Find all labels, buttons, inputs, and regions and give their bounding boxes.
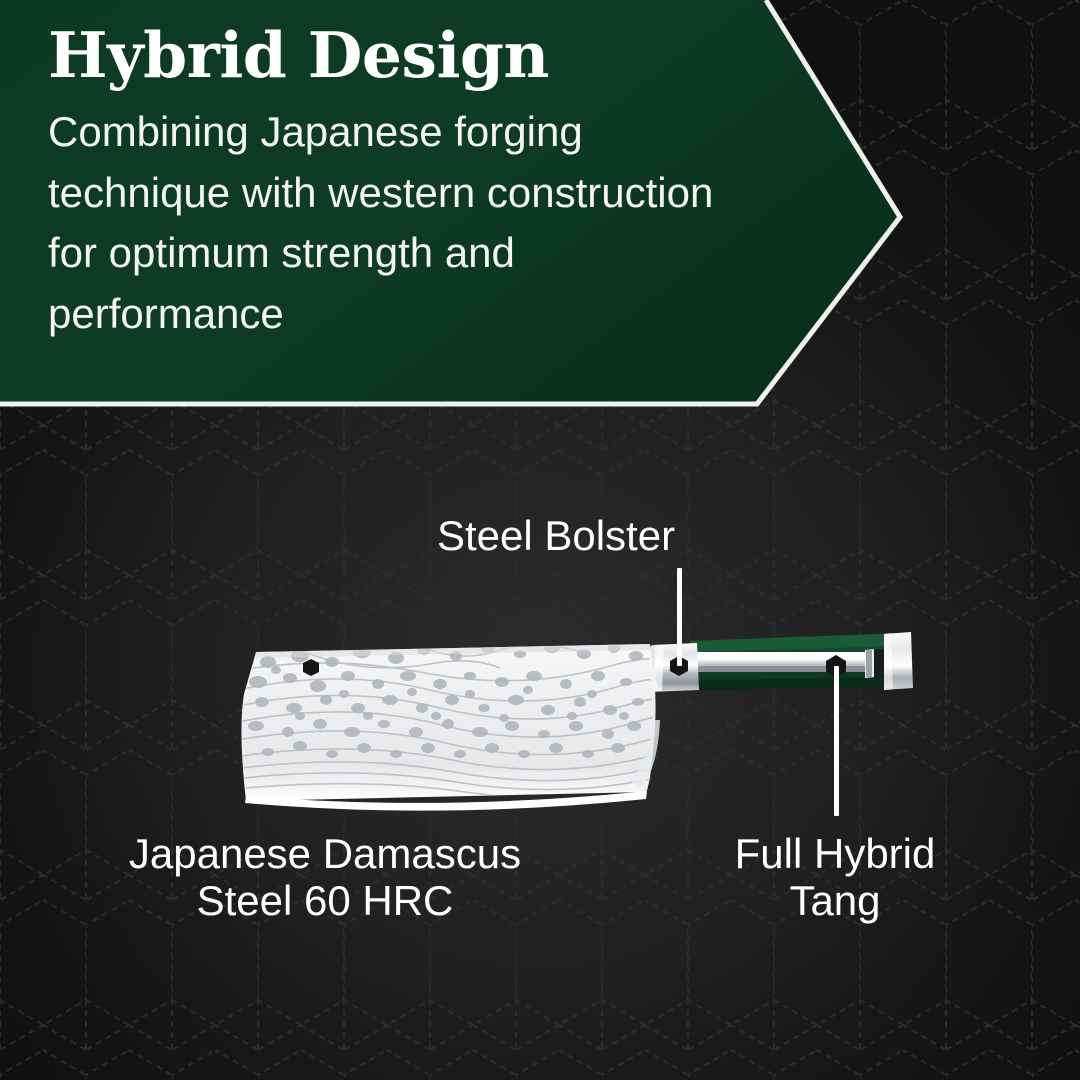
callout-label-steel-bolster: Steel Bolster bbox=[16, 512, 1080, 559]
callout-label-japanese-damascus-steel: Japanese Damascus Steel 60 HRC bbox=[40, 830, 610, 924]
leader-line-full-hybrid-tang bbox=[834, 666, 839, 816]
leader-line-steel-bolster bbox=[677, 568, 682, 666]
hybrid-design-banner bbox=[0, 0, 910, 412]
infographic-canvas: Hybrid Design Combining Japanese forging… bbox=[0, 0, 1080, 1080]
callout-label-full-hybrid-tang: Full Hybrid Tang bbox=[660, 830, 1010, 924]
